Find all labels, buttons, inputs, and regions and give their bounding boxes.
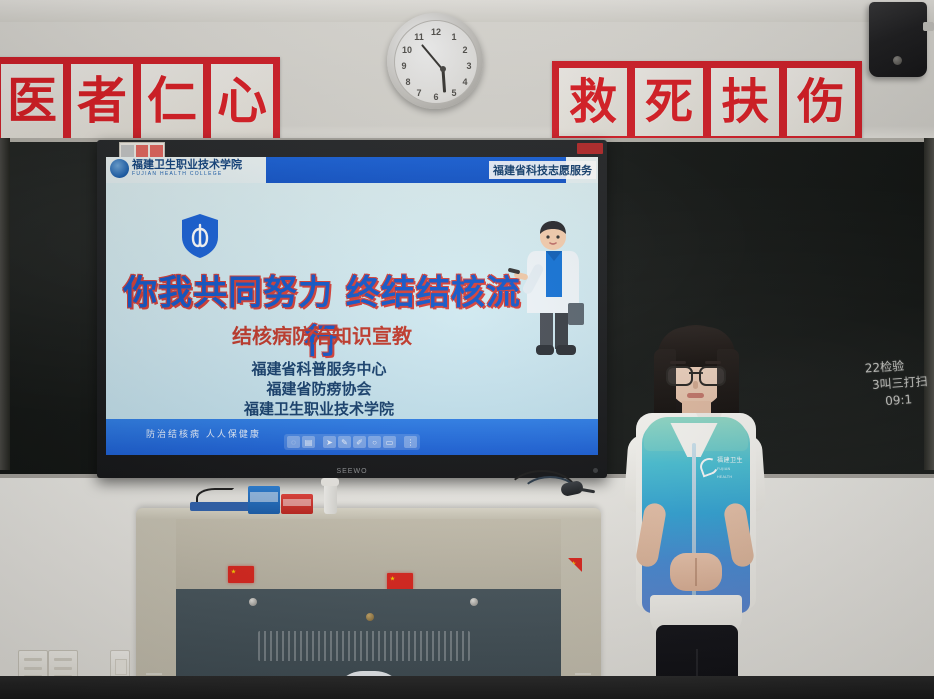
ventilation-grille [258,631,470,661]
chinese-flag-corner [568,558,582,572]
banner-char: 伤 [785,66,857,138]
grid-view-icon[interactable]: ▤ [302,436,315,448]
classroom-photo: 医 者 仁 心 救 死 扶 伤 12 1 2 3 4 5 6 7 8 9 10 … [0,0,934,699]
banner-right-char-4: 伤 [797,78,845,126]
blackboard-left-edge [0,138,10,470]
clock-number: 7 [413,87,425,99]
clock-number: 4 [459,76,471,88]
clock-number: 1 [448,31,460,43]
pointer-icon[interactable]: ➤ [323,436,336,448]
wall-banner-right: 救 死 扶 伤 [552,61,862,143]
sanitizer-pump [321,478,339,486]
school-seal-icon [110,159,129,178]
presentation-screen[interactable]: 福建卫生职业技术学院 FUJIAN HEALTH COLLEGE 福建省科技志愿… [106,157,598,455]
lungs-shield-icon [180,213,220,259]
banner-right-char-3: 扶 [721,78,769,126]
panel-brand-label: SEEWO [336,468,367,475]
banner-char: 救 [557,66,629,138]
clock-number: 10 [401,44,413,56]
pen-icon[interactable]: ✎ [338,436,351,448]
school-name-en: FUJIAN HEALTH COLLEGE [132,171,242,178]
glasses-lens-right [699,366,726,386]
vest-logo: 福建卫生FUJIAN HEALTH [700,457,746,473]
hand-sanitizer-bottle [324,484,337,514]
vest-logo-subtext: FUJIAN HEALTH [717,465,746,481]
school-name-cn: 福建卫生职业技术学院 [132,159,242,171]
slide-header-bar: 福建卫生职业技术学院 FUJIAN HEALTH COLLEGE 福建省科技志愿… [106,157,598,183]
clock-center-pin [440,66,446,72]
vest-logo-text: 福建卫生FUJIAN HEALTH [717,457,746,481]
school-logo: 福建卫生职业技术学院 FUJIAN HEALTH COLLEGE [110,159,242,178]
box-label [250,492,278,502]
clock-face: 12 1 2 3 4 5 6 7 8 9 10 11 [394,20,478,104]
chinese-flag-sticker [228,566,254,583]
interactive-display-panel[interactable]: 福建卫生职业技术学院 FUJIAN HEALTH COLLEGE 福建省科技志愿… [97,140,607,478]
floor-strip [0,676,934,699]
service-tag: 福建省科技志愿服务 [489,161,596,179]
banner-left-char-1: 医 [7,76,57,126]
clock-hour-hand [442,69,447,92]
banner-char: 医 [0,62,65,140]
speaker-driver-icon [893,56,902,65]
slide-footer-slogan: 防治结核病 人人保健康 [146,427,261,440]
panel-lock[interactable] [366,613,374,621]
banner-left-char-3: 仁 [147,76,197,126]
banner-left-char-4: 心 [217,76,267,126]
clasped-hands [670,553,722,591]
glasses-lens-left [666,366,693,386]
hand-split [695,558,697,586]
banner-char: 者 [69,62,135,140]
presenter: 福建卫生FUJIAN HEALTH [604,325,784,699]
clock-number: 3 [463,60,475,72]
clock-number: 5 [448,87,460,99]
eyebrow-right [705,361,721,364]
banner-char: 心 [209,62,275,140]
banner-char: 仁 [139,62,205,140]
cartoon-doctor-illustration [506,217,586,407]
chinese-flag-sticker [387,573,413,590]
organization-line: 福建省防痨协会 [106,379,532,399]
lectern-front-face [176,519,561,589]
clock-number: 2 [459,44,471,56]
red-box [281,494,313,514]
banner-char: 扶 [709,66,781,138]
clock-number: 11 [413,31,425,43]
screen-icon[interactable]: ▭ [383,436,396,448]
organization-line: 福建卫生职业技术学院 [106,399,532,419]
organization-line: 福建省科普服务中心 [106,359,532,379]
panel-screw [470,598,478,606]
clock-number: 6 [430,91,442,103]
glasses [666,366,726,382]
chalk-writing: 22检验 3叫三打扫 09:1 [864,356,934,412]
chalk-line: 09:1 [885,390,934,411]
slide-footer-bar: 防治结核病 人人保健康 ◌ ▤ ➤ ✎ ✐ ○ ▭ ⋮ [106,419,598,455]
wall-top-trim [0,0,934,22]
banner-right-char-2: 死 [645,78,693,126]
banner-right-char-1: 救 [569,78,617,126]
mouth [687,393,704,398]
eyebrow-left [670,361,686,364]
panel-corner-label [577,143,603,154]
panel-screw [249,598,257,606]
box-label [283,499,311,506]
speaker-bracket [923,22,934,31]
presentation-toolbar[interactable]: ◌ ▤ ➤ ✎ ✐ ○ ▭ ⋮ [284,434,420,450]
prev-slide-icon[interactable]: ◌ [287,436,300,448]
highlighter-icon[interactable]: ✐ [353,436,366,448]
wall-clock: 12 1 2 3 4 5 6 7 8 9 10 11 [387,13,483,109]
wall-speaker [869,2,927,77]
panel-ir-sensor [593,468,598,473]
banner-left-char-2: 者 [77,76,127,126]
wall-banner-left: 医 者 仁 心 [0,57,280,145]
blue-box [248,486,280,514]
clock-number: 8 [402,76,414,88]
teacher-lectern [136,508,601,699]
clock-number: 12 [430,26,442,38]
magnifier-icon[interactable]: ○ [368,436,381,448]
nose [693,381,698,389]
more-icon[interactable]: ⋮ [404,436,417,448]
banner-char: 死 [633,66,705,138]
clock-number: 9 [398,60,410,72]
blackboard-right-rail [924,138,934,470]
